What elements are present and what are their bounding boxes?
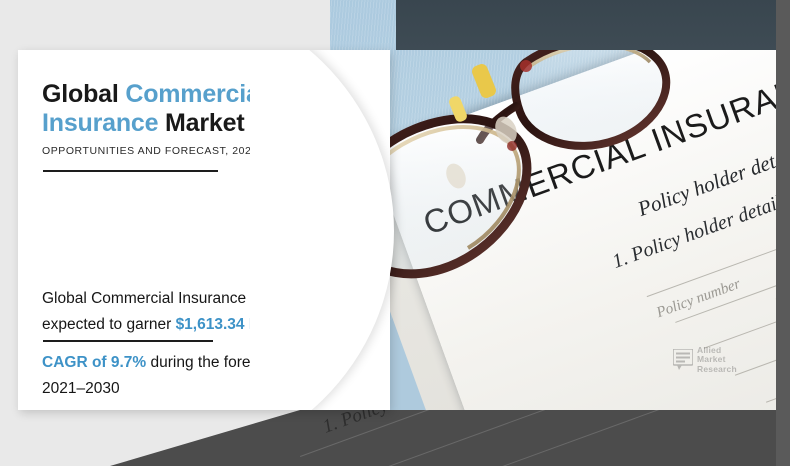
page-subtitle: OPPORTUNITIES AND FORECAST, 2021–2030 xyxy=(42,145,290,157)
page-title: Global Commercial Insurance Market xyxy=(42,80,342,138)
top-dark-band xyxy=(396,0,790,50)
bottom-band-line xyxy=(350,410,632,466)
bottom-band-document-text: 1. Policy xyxy=(320,410,391,439)
content-card: Global Commercial Insurance Market OPPOR… xyxy=(18,50,390,410)
page-title-part-1: Global xyxy=(42,80,125,108)
content-card-inner: Global Commercial Insurance Market OPPOR… xyxy=(18,50,390,410)
bottom-dark-band: 1. Policy xyxy=(0,410,790,466)
stat-cagr-highlight: CAGR of 9.7% xyxy=(42,354,146,371)
bottom-band-line xyxy=(420,410,683,466)
divider-top xyxy=(43,170,218,172)
stat-market-value-highlight: $1,613.34 Billion xyxy=(176,316,297,333)
photo-plate: COMMERCIAL INSURANCE CO Policy holder de… xyxy=(330,0,776,440)
stat-cagr: CAGR of 9.7% during the forecast period … xyxy=(42,350,372,402)
infographic-canvas: COMMERCIAL INSURANCE CO Policy holder de… xyxy=(0,0,790,466)
stat-market-value: Global Commercial Insurance Market is ex… xyxy=(42,286,372,338)
eyeglasses-icon xyxy=(330,0,776,440)
page-title-part-3: Market xyxy=(158,109,244,137)
stat-market-value-trail: by 2030 xyxy=(296,316,355,333)
right-gutter xyxy=(776,0,790,466)
divider-middle xyxy=(43,340,213,342)
